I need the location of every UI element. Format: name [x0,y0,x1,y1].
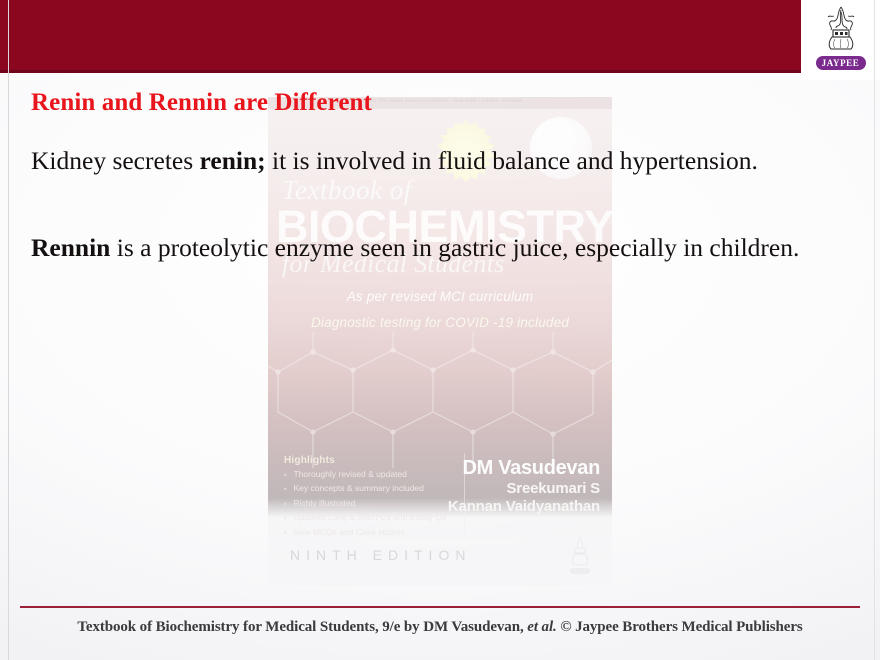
footer-text-after: © Jaypee Brothers Medical Publishers [557,619,803,635]
paragraph-2-bold-term: Rennin [31,233,110,262]
body-paragraph-2: Rennin is a proteolytic enzyme seen in g… [31,230,841,266]
flame-lamp-icon [815,3,867,57]
body-paragraph-1: Kidney secretes renin; it is involved in… [31,143,841,179]
presentation-slide: JAYPEE JAYPEE The Health Sciences Publis… [0,0,880,660]
header-banner [0,0,801,70]
jaypee-logo: JAYPEE [801,0,880,80]
footer-divider [20,606,860,608]
paragraph-1-bold-term: renin; [200,146,266,175]
footer-et-al: et al. [527,619,556,635]
paragraph-1-rest: it is involved in fluid balance and hype… [266,146,758,175]
paragraph-1-lead: Kidney secretes [31,146,200,175]
page-title: Renin and Rennin are Different [31,89,372,117]
slide-content: Renin and Rennin are Different Kidney se… [0,0,880,660]
header-banner-underline [0,70,801,73]
slide-frame-right-edge [874,0,875,660]
jaypee-badge: JAYPEE [816,56,866,70]
footer-attribution: Textbook of Biochemistry for Medical Stu… [0,619,880,636]
slide-frame-left-edge [8,0,9,660]
footer-text-before: Textbook of Biochemistry for Medical Stu… [77,619,527,635]
paragraph-2-rest: is a proteolytic enzyme seen in gastric … [110,233,799,262]
